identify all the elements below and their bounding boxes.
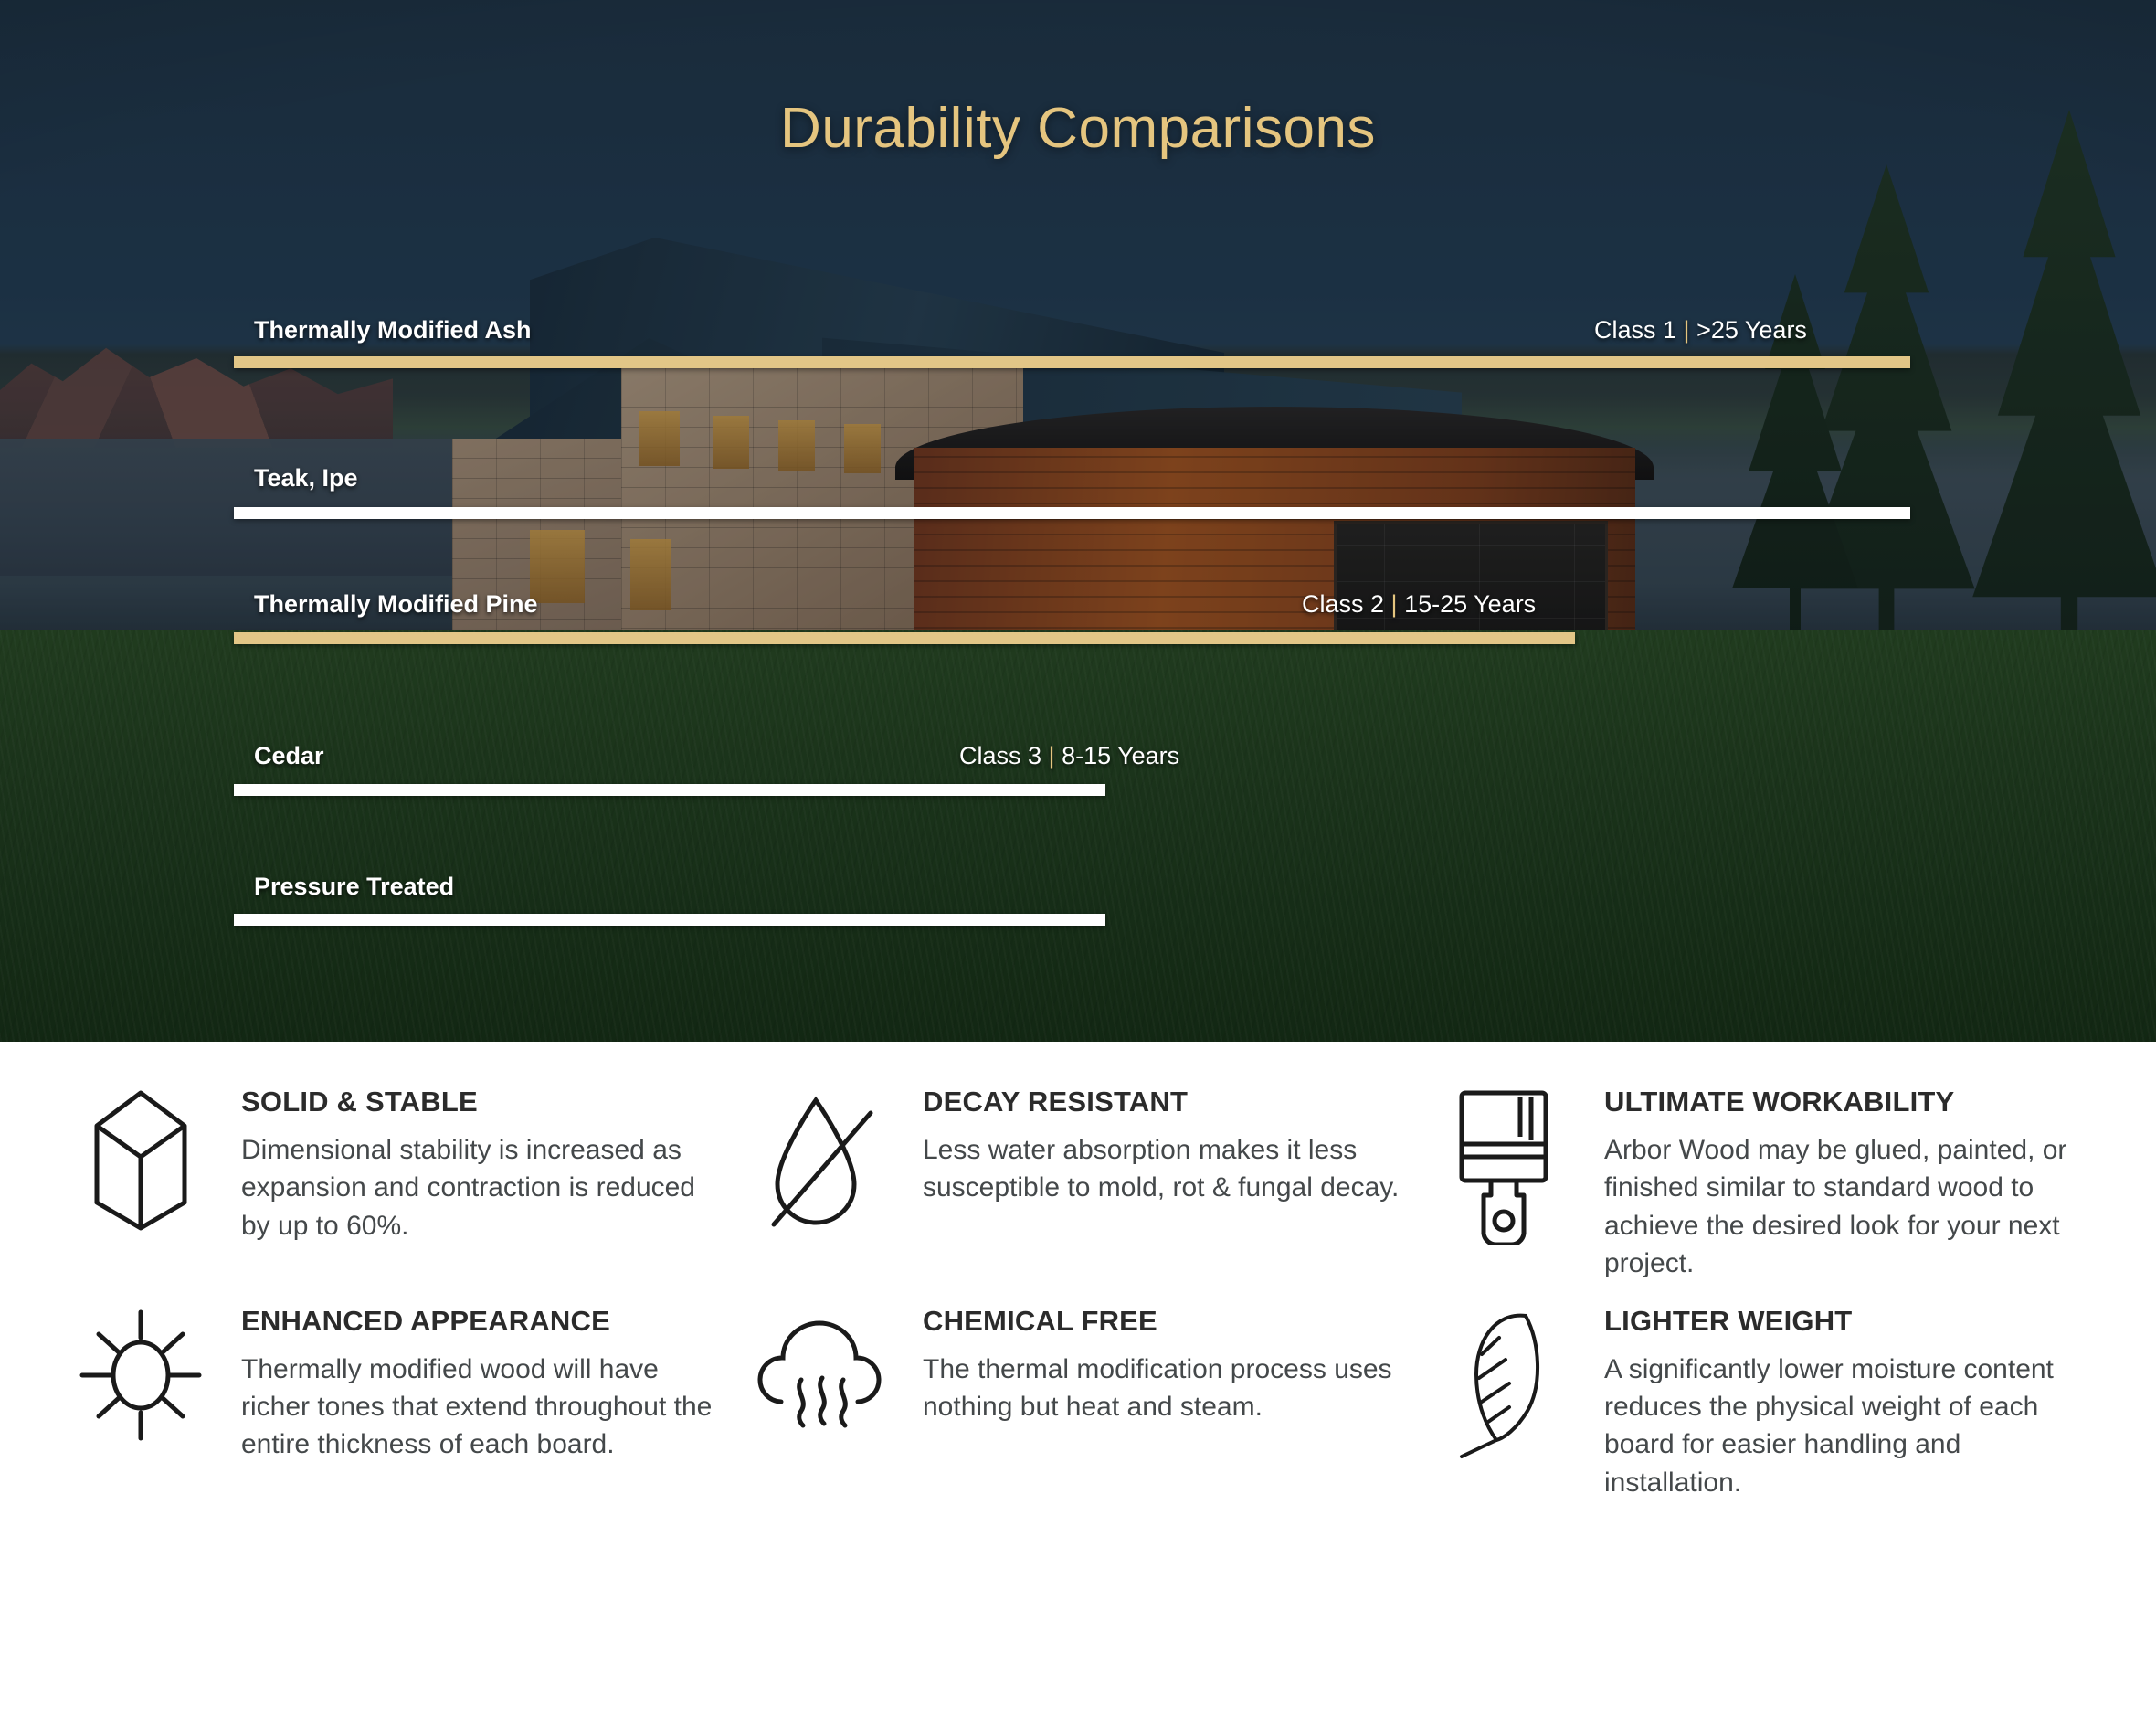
- features-section: SOLID & STABLEDimensional stability is i…: [0, 1042, 2156, 1727]
- feature-card-body: SOLID & STABLEDimensional stability is i…: [241, 1080, 729, 1245]
- chart-bar: [234, 356, 1910, 368]
- feature-card-text: Less water absorption makes it less susc…: [923, 1131, 1411, 1207]
- feature-card-title: LIGHTER WEIGHT: [1604, 1305, 2092, 1338]
- feature-card-body: ULTIMATE WORKABILITYArbor Wood may be gl…: [1604, 1080, 2092, 1283]
- chart-class-label: Class 1 | >25 Years: [1594, 316, 1807, 344]
- chart-row-label: Thermally Modified Pine: [254, 590, 538, 619]
- feature-card-title: ULTIMATE WORKABILITY: [1604, 1086, 2092, 1118]
- chart-bar: [234, 914, 1105, 926]
- chart-bar: [234, 784, 1105, 796]
- feature-card-text: Thermally modified wood will have richer…: [241, 1351, 729, 1464]
- wood-block-icon: [64, 1080, 217, 1263]
- feature-card-body: LIGHTER WEIGHTA significantly lower mois…: [1604, 1299, 2092, 1502]
- paintbrush-icon: [1427, 1080, 1580, 1263]
- feature-card: LIGHTER WEIGHTA significantly lower mois…: [1427, 1299, 2092, 1502]
- chart-row-label: Pressure Treated: [254, 873, 454, 901]
- water-drop-no-icon: [745, 1080, 899, 1263]
- feature-card-title: DECAY RESISTANT: [923, 1086, 1411, 1118]
- chart-class-label: Class 2 | 15-25 Years: [1302, 590, 1536, 619]
- chart-bar: [234, 632, 1575, 644]
- chart-row-label: Teak, Ipe: [254, 464, 358, 493]
- steam-cloud-icon: [745, 1299, 899, 1482]
- feature-card: CHEMICAL FREEThe thermal modification pr…: [745, 1299, 1411, 1502]
- feature-card: DECAY RESISTANTLess water absorption mak…: [745, 1080, 1411, 1283]
- feature-card-text: The thermal modification process uses no…: [923, 1351, 1411, 1426]
- chart-class-label: Class 3 | 8-15 Years: [959, 742, 1179, 770]
- hero-section: Durability Comparisons Thermally Modifie…: [0, 0, 2156, 1042]
- durability-chart: Thermally Modified AshClass 1 | >25 Year…: [0, 0, 2156, 1042]
- feather-icon: [1427, 1299, 1580, 1482]
- feature-card-body: ENHANCED APPEARANCEThermally modified wo…: [241, 1299, 729, 1464]
- feature-card-body: CHEMICAL FREEThe thermal modification pr…: [923, 1299, 1411, 1426]
- feature-card-body: DECAY RESISTANTLess water absorption mak…: [923, 1080, 1411, 1207]
- feature-card-title: SOLID & STABLE: [241, 1086, 729, 1118]
- feature-card-text: Dimensional stability is increased as ex…: [241, 1131, 729, 1245]
- feature-card: ULTIMATE WORKABILITYArbor Wood may be gl…: [1427, 1080, 2092, 1283]
- chart-bar: [234, 507, 1910, 519]
- sun-icon: [64, 1299, 217, 1482]
- chart-row-label: Cedar: [254, 742, 324, 770]
- features-grid: SOLID & STABLEDimensional stability is i…: [64, 1080, 2092, 1501]
- feature-card-title: CHEMICAL FREE: [923, 1305, 1411, 1338]
- feature-card-text: Arbor Wood may be glued, painted, or fin…: [1604, 1131, 2092, 1283]
- feature-card-text: A significantly lower moisture content r…: [1604, 1351, 2092, 1502]
- feature-card: ENHANCED APPEARANCEThermally modified wo…: [64, 1299, 729, 1502]
- chart-row-label: Thermally Modified Ash: [254, 316, 532, 344]
- feature-card-title: ENHANCED APPEARANCE: [241, 1305, 729, 1338]
- feature-card: SOLID & STABLEDimensional stability is i…: [64, 1080, 729, 1283]
